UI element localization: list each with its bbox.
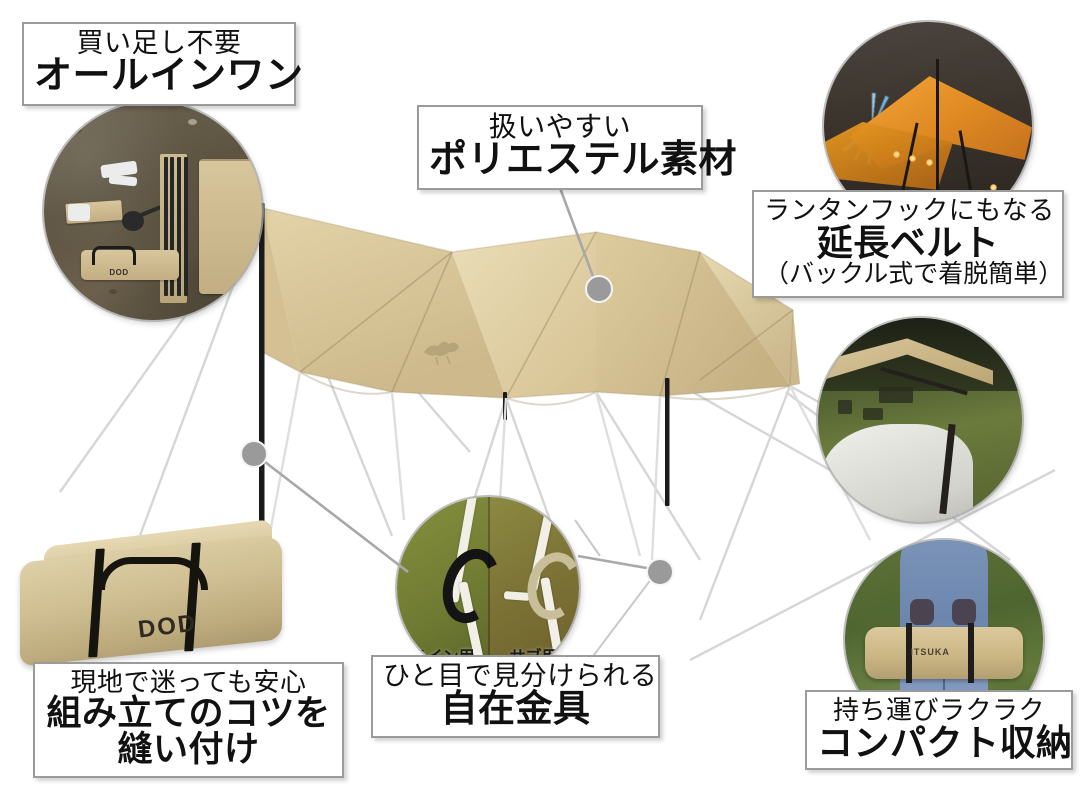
- callout-extension-belt-note: （バックル式で着脱簡単）: [764, 261, 1052, 287]
- leader-tensioner-left: [252, 452, 408, 572]
- callout-polyester-large: ポリエステル素材: [429, 141, 691, 181]
- callout-polyester-small: 扱いやすい: [429, 112, 691, 141]
- callout-assembly-tips-small: 現地で迷っても安心: [45, 669, 332, 696]
- callout-extension-belt[interactable]: ランタンフックにもなる 延長ベルト （バックル式で着脱簡単）: [752, 190, 1064, 298]
- callout-compact-storage-small: 持ち運びラクラク: [817, 697, 1061, 724]
- callout-assembly-tips[interactable]: 現地で迷っても安心 組み立てのコツを 縫い付け: [33, 662, 344, 778]
- leader-tensioner-up: [575, 520, 600, 556]
- callout-compact-storage[interactable]: 持ち運びラクラク コンパクト収納: [805, 690, 1073, 770]
- infographic-canvas: DOD: [0, 0, 1080, 810]
- callout-all-in-one-small: 買い足し不要: [34, 29, 284, 57]
- hotspot-dot-tensioner-sub[interactable]: [646, 558, 674, 586]
- callout-tensioner[interactable]: ひと目で見分けられる 自在金具: [371, 655, 660, 738]
- callout-all-in-one-large: オールインワン: [34, 57, 284, 97]
- callout-all-in-one[interactable]: 買い足し不要 オールインワン: [22, 22, 296, 106]
- callout-polyester[interactable]: 扱いやすい ポリエステル素材: [417, 105, 703, 190]
- callout-compact-storage-large: コンパクト収納: [817, 724, 1061, 761]
- callout-extension-belt-large: 延長ベルト: [764, 224, 1052, 261]
- hotspot-dot-tensioner-main[interactable]: [240, 440, 268, 468]
- callout-extension-belt-small: ランタンフックにもなる: [764, 197, 1052, 224]
- callout-tensioner-large: 自在金具: [383, 690, 648, 728]
- callout-assembly-tips-large-1: 組み立てのコツを: [45, 696, 332, 732]
- hotspot-dot-polyester[interactable]: [585, 275, 613, 303]
- leader-polyester: [560, 188, 597, 287]
- callout-tensioner-small: ひと目で見分けられる: [383, 662, 648, 690]
- callout-assembly-tips-large-2: 縫い付け: [45, 732, 332, 768]
